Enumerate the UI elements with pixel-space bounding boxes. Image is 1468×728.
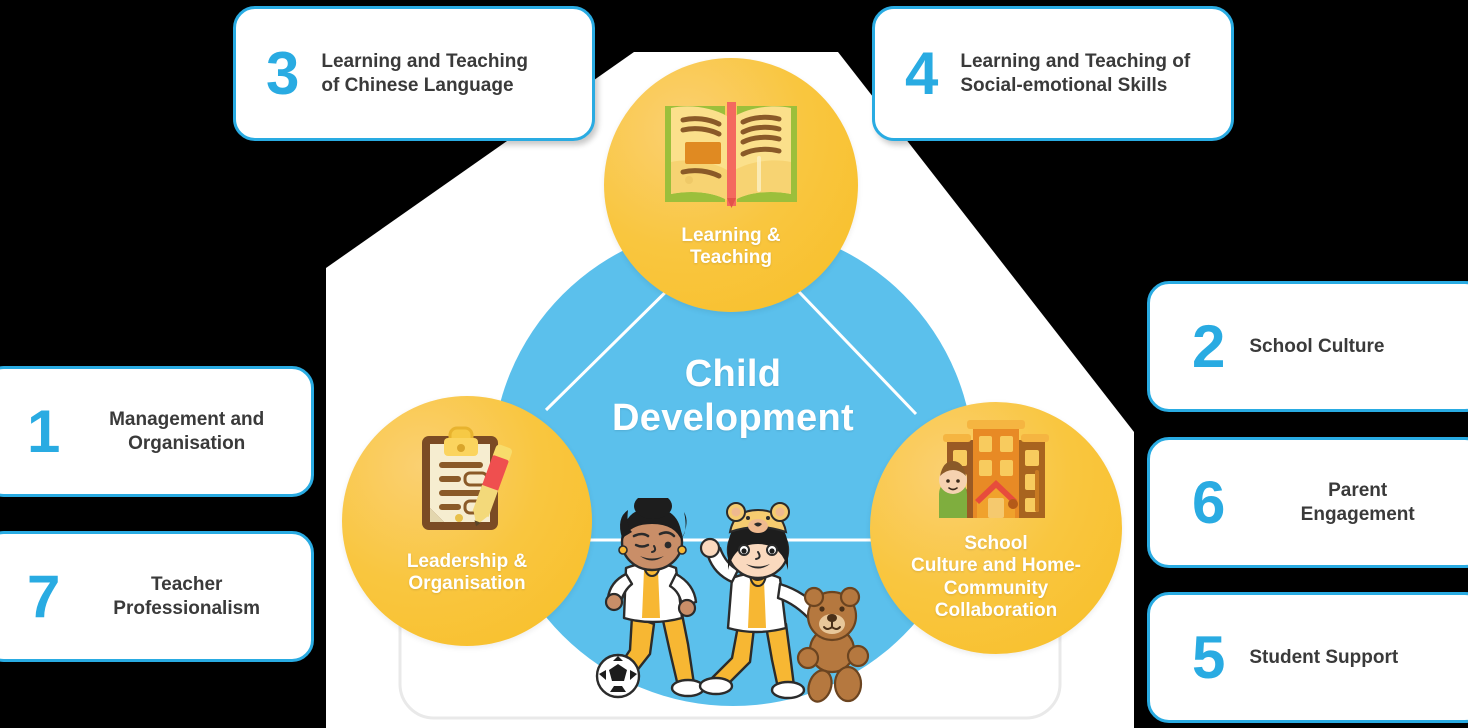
callout-label: Teacher Professionalism (80, 573, 293, 621)
node-school-culture-home-community[interactable]: School Culture and Home- Community Colla… (870, 402, 1122, 654)
callout-label-line2: Organisation (80, 432, 293, 456)
callout-label: Student Support (1249, 646, 1466, 670)
child-figure-icon (939, 461, 967, 518)
node-leadership-organisation[interactable]: Leadership & Organisation (342, 396, 592, 646)
node-label-line2: Teaching (681, 247, 780, 269)
callout-number: 7 (27, 567, 60, 627)
node-label-line1: School (911, 533, 1081, 555)
node-label-line1: Learning & (681, 225, 780, 247)
node-label-line2: Organisation (407, 573, 527, 595)
callout-label: Learning and Teaching of Chinese Languag… (321, 50, 570, 98)
callout-number: 1 (27, 402, 60, 462)
diagram-canvas: Child Development (0, 0, 1468, 728)
node-label-line3: Community (911, 578, 1081, 600)
callout-label-line1: Learning and Teaching (321, 50, 570, 74)
node-label-line1: Leadership & (407, 551, 527, 573)
callout-number: 4 (905, 44, 938, 104)
clipboard-pencil-icon (412, 426, 522, 541)
callout-card-2[interactable]: 2 School Culture (1147, 281, 1468, 412)
callout-label: Management and Organisation (80, 408, 293, 456)
soccer-ball (597, 655, 639, 697)
callout-number: 5 (1192, 628, 1225, 688)
two-children-playing-illustration (570, 498, 900, 720)
callout-label-line1: Student Support (1249, 646, 1466, 670)
callout-label-line2: of Chinese Language (321, 74, 570, 98)
callout-label-line1: Parent (1249, 479, 1466, 503)
center-label: Child Development (492, 352, 974, 440)
callout-card-1[interactable]: 1 Management and Organisation (0, 366, 314, 497)
callout-number: 2 (1192, 317, 1225, 377)
callout-number: 3 (266, 44, 299, 104)
callout-label-line1: School Culture (1249, 335, 1466, 359)
callout-number: 6 (1192, 473, 1225, 533)
callout-card-6[interactable]: 6 Parent Engagement (1147, 437, 1468, 568)
callout-label-line2: Professionalism (80, 597, 293, 621)
node-label-line4: Collaboration (911, 600, 1081, 622)
callout-label: School Culture (1249, 335, 1466, 359)
center-label-line2: Development (492, 396, 974, 440)
node-learning-teaching-label: Learning & Teaching (681, 225, 780, 270)
center-label-line1: Child (492, 352, 974, 396)
callout-label-line1: Teacher (80, 573, 293, 597)
callout-card-7[interactable]: 7 Teacher Professionalism (0, 531, 314, 662)
callout-label-line2: Engagement (1249, 503, 1466, 527)
callout-label-line2: Social-emotional Skills (960, 74, 1209, 98)
callout-card-4[interactable]: 4 Learning and Teaching of Social-emotio… (872, 6, 1234, 141)
callout-card-3[interactable]: 3 Learning and Teaching of Chinese Langu… (233, 6, 595, 141)
callout-label: Parent Engagement (1249, 479, 1466, 527)
callout-label-line1: Learning and Teaching of (960, 50, 1209, 74)
node-leadership-organisation-label: Leadership & Organisation (407, 551, 527, 596)
callout-card-5[interactable]: 5 Student Support (1147, 592, 1468, 723)
node-label-line2: Culture and Home- (911, 555, 1081, 577)
callout-label-line1: Management and (80, 408, 293, 432)
node-school-culture-label: School Culture and Home- Community Colla… (911, 533, 1081, 623)
school-building-icon (937, 418, 1055, 527)
callout-label: Learning and Teaching of Social-emotiona… (960, 50, 1209, 98)
node-learning-teaching[interactable]: Learning & Teaching (604, 58, 858, 312)
open-book-icon (661, 98, 801, 215)
